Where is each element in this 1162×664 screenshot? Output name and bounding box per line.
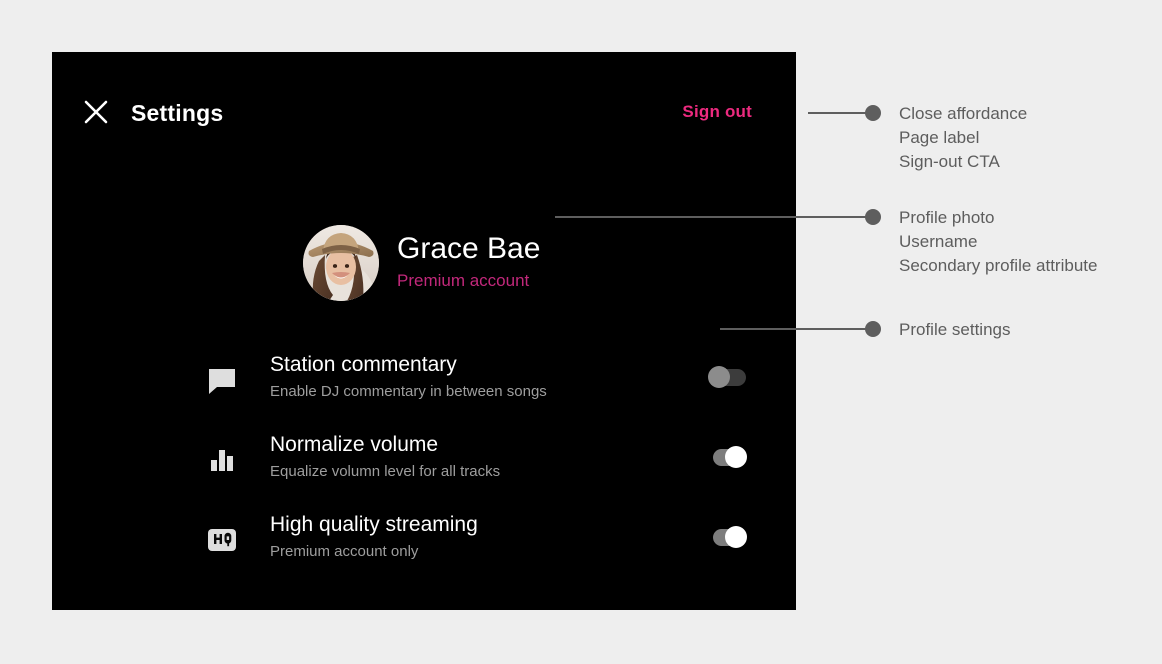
- bar-chart-icon: [200, 438, 244, 482]
- annotated-mockup-canvas: Settings Sign out: [0, 0, 1162, 664]
- annotation-label: Username: [899, 230, 977, 254]
- settings-screen-panel: Settings Sign out: [52, 52, 796, 610]
- annotation-dot: [865, 209, 881, 225]
- sign-out-button[interactable]: Sign out: [682, 100, 752, 124]
- annotation-label: Sign-out CTA: [899, 150, 1000, 174]
- annotation-label: Secondary profile attribute: [899, 254, 1097, 278]
- annotation-leader-line: [808, 112, 868, 114]
- toggle-station-commentary[interactable]: [708, 366, 747, 388]
- annotation-dot: [865, 321, 881, 337]
- toggle-normalize-volume[interactable]: [708, 446, 747, 468]
- annotation-leader-line: [720, 328, 868, 330]
- setting-title: Station commentary: [270, 350, 457, 380]
- hq-badge-icon: [200, 518, 244, 562]
- annotation-label: Close affordance: [899, 102, 1027, 126]
- profile-name: Grace Bae: [397, 230, 540, 268]
- setting-subtitle: Premium account only: [270, 541, 418, 563]
- page-title: Settings: [131, 97, 223, 129]
- annotation-leader-line: [555, 216, 868, 218]
- toggle-thumb: [725, 526, 747, 548]
- toggle-thumb: [708, 366, 730, 388]
- setting-row-normalize-volume[interactable]: Normalize volume Equalize volumn level f…: [52, 420, 796, 500]
- setting-row-station-commentary[interactable]: Station commentary Enable DJ commentary …: [52, 340, 796, 420]
- annotation-label: Page label: [899, 126, 979, 150]
- setting-row-high-quality-streaming[interactable]: High quality streaming Premium account o…: [52, 500, 796, 580]
- annotation-label: Profile photo: [899, 206, 994, 230]
- avatar[interactable]: [303, 225, 379, 301]
- setting-subtitle: Enable DJ commentary in between songs: [270, 381, 547, 403]
- close-icon[interactable]: [78, 94, 114, 130]
- toggle-thumb: [725, 446, 747, 468]
- profile-block: Grace Bae Premium account: [303, 173, 723, 283]
- app-bar: Settings Sign out: [52, 52, 796, 172]
- setting-title: High quality streaming: [270, 510, 478, 540]
- setting-subtitle: Equalize volumn level for all tracks: [270, 461, 500, 483]
- toggle-high-quality-streaming[interactable]: [708, 526, 747, 548]
- profile-attribute: Premium account: [397, 269, 529, 293]
- annotation-label: Profile settings: [899, 318, 1011, 342]
- setting-title: Normalize volume: [270, 430, 438, 460]
- annotation-dot: [865, 105, 881, 121]
- speech-bubble-icon: [200, 358, 244, 402]
